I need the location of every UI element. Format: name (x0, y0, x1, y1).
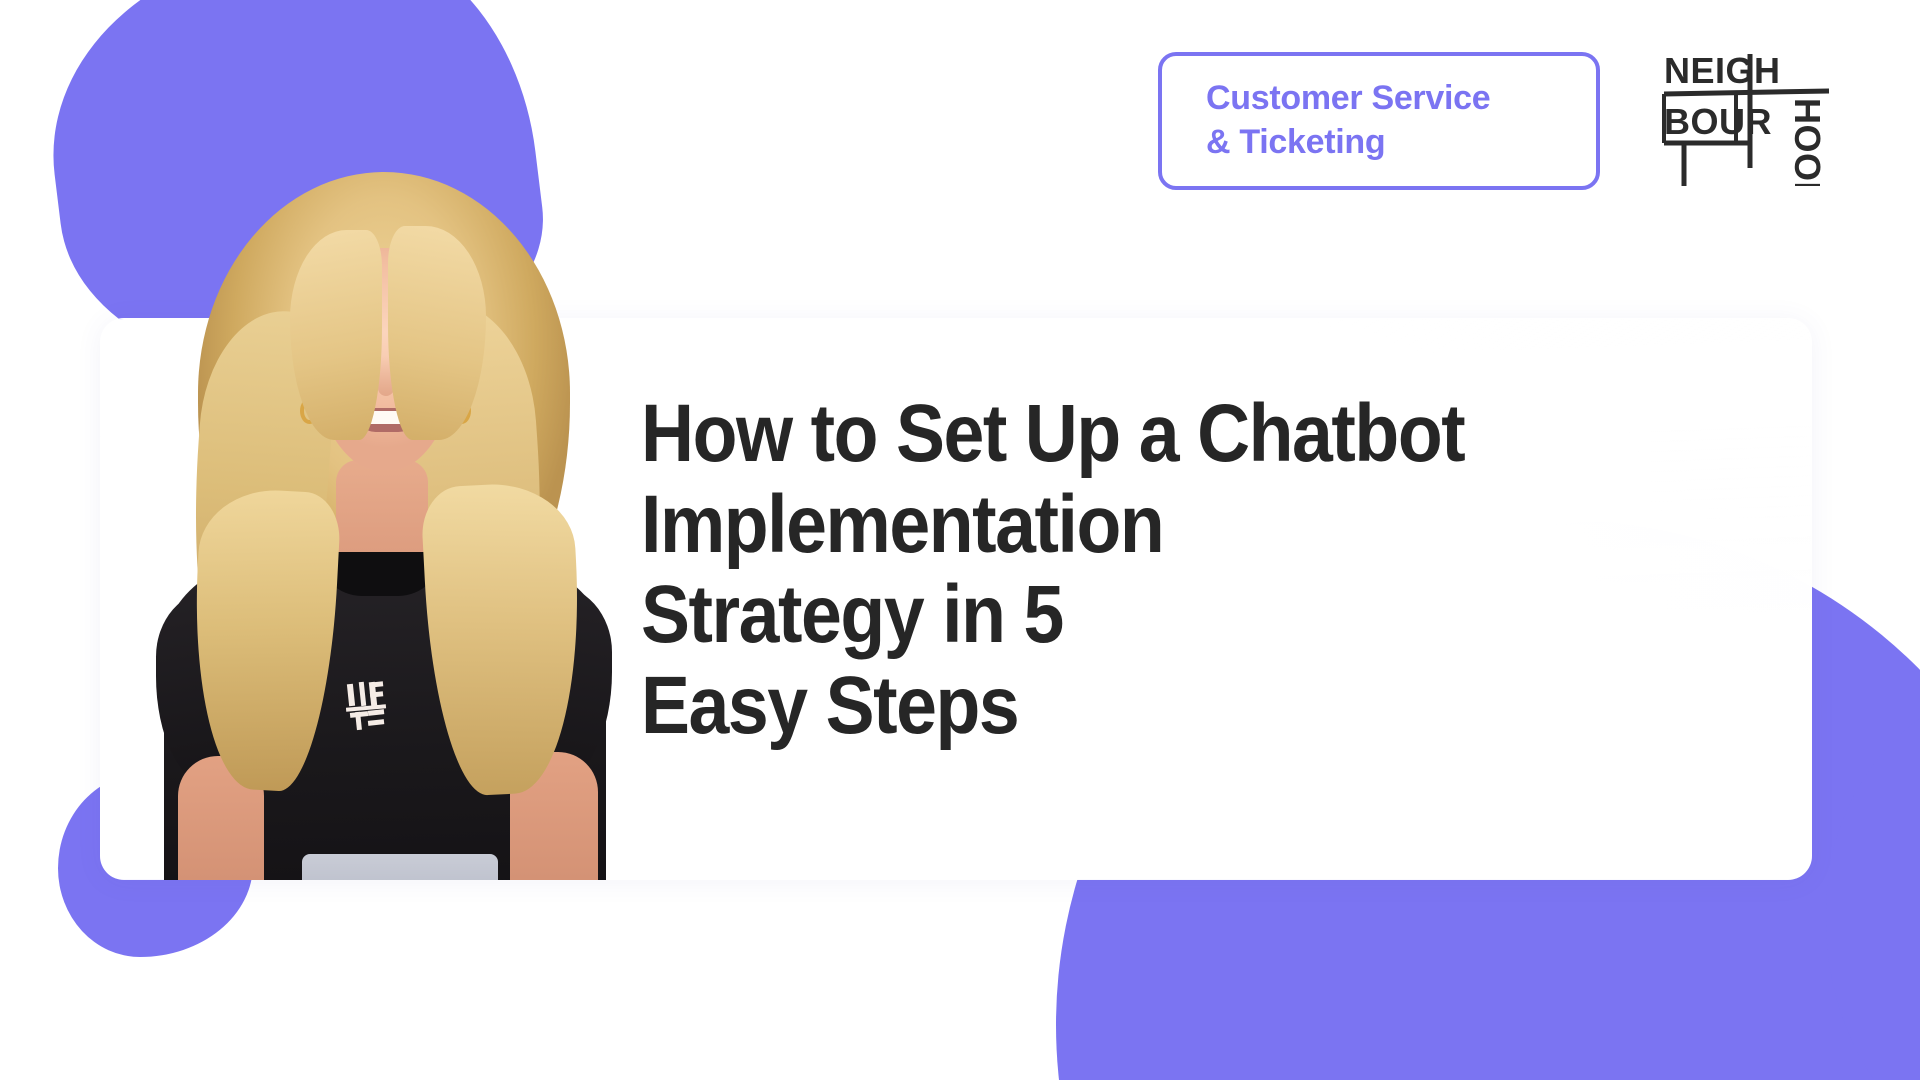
hair-fringe-left (290, 230, 382, 440)
page-title: How to Set Up a Chatbot Implementation S… (641, 389, 1679, 751)
logo-text-bour: BOUR (1664, 101, 1772, 142)
tshirt-logo-icon (346, 680, 402, 732)
author-portrait (150, 160, 620, 880)
logo-text-neigh: NEIGH (1664, 50, 1781, 91)
logo-text-hood: HOOD (1787, 98, 1828, 186)
jeans (302, 854, 498, 880)
brand-logo[interactable]: NEIGH BOUR HOOD (1658, 36, 1830, 186)
category-badge[interactable]: Customer Service & Ticketing (1158, 52, 1600, 190)
category-badge-label: Customer Service & Ticketing (1162, 77, 1534, 164)
hero-banner: How to Set Up a Chatbot Implementation S… (0, 0, 1920, 1080)
